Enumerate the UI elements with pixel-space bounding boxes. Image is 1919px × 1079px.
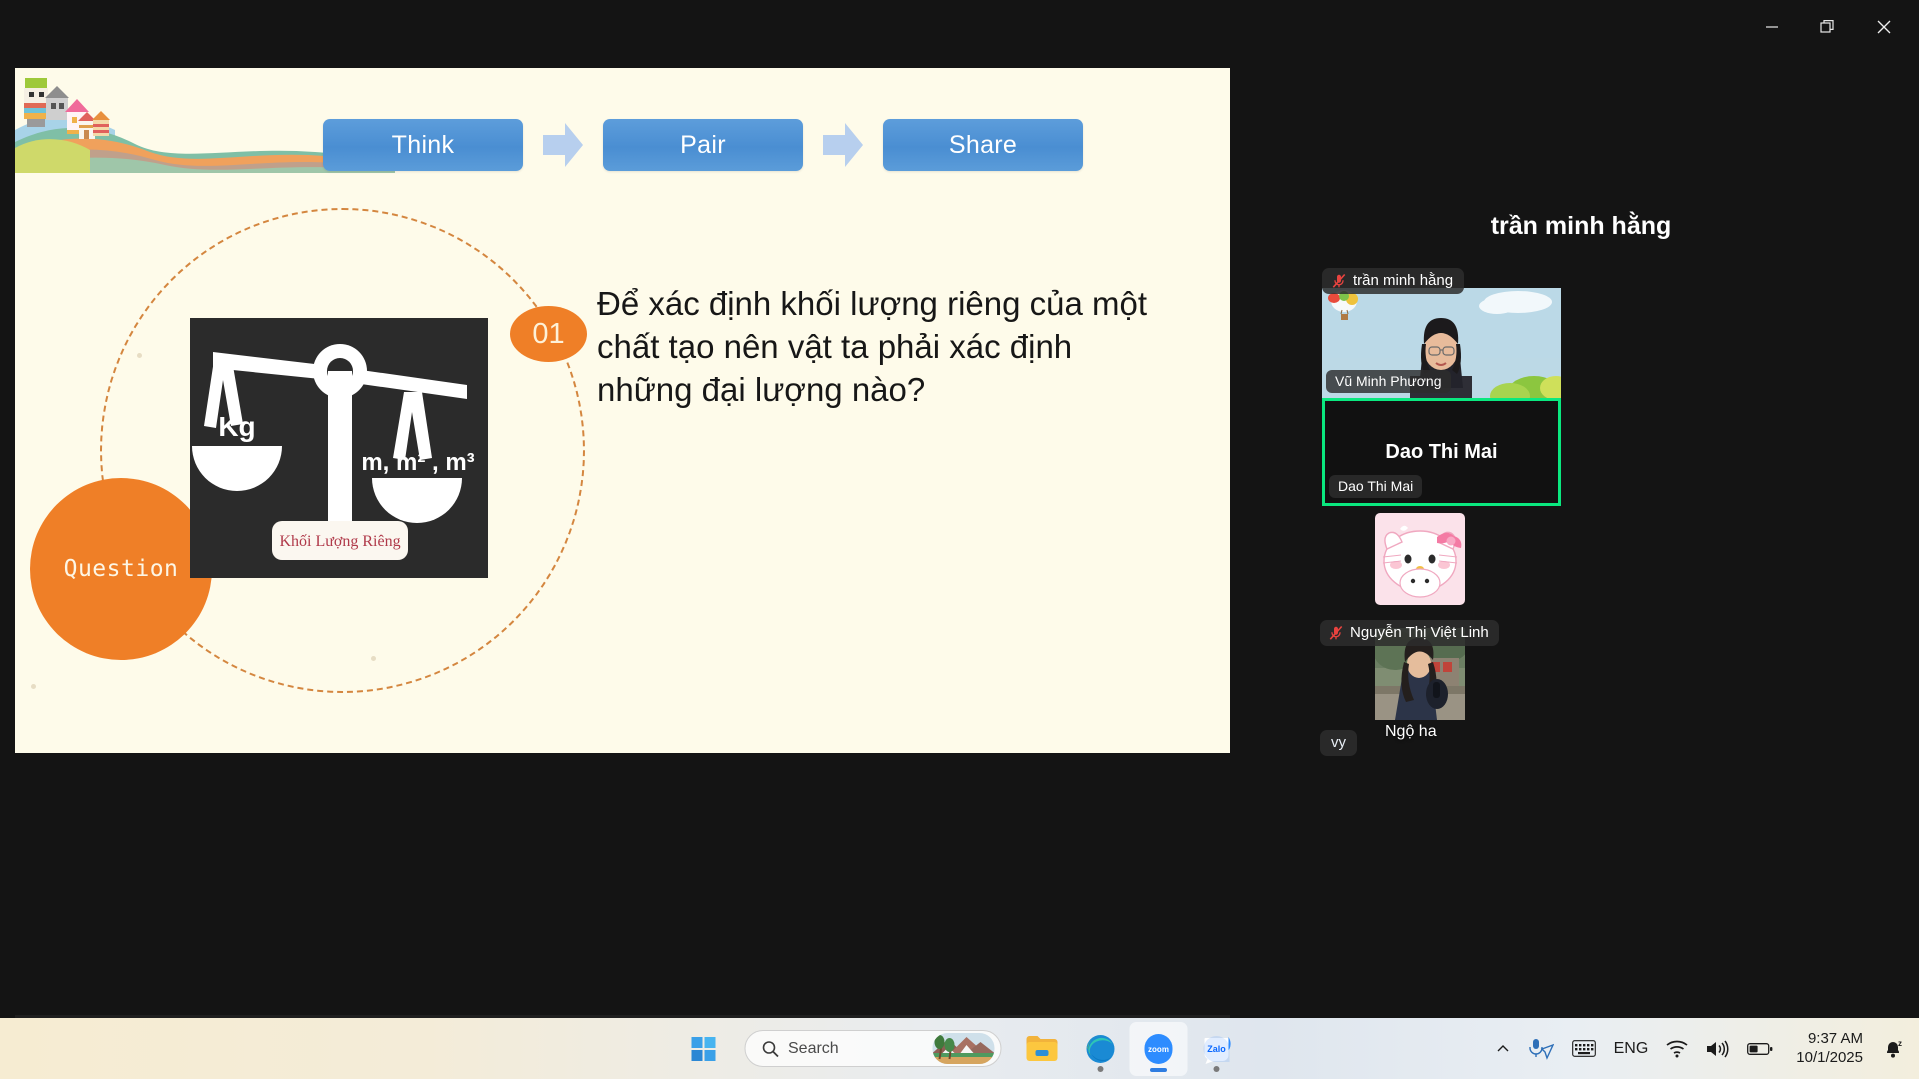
show-hidden-icons-button[interactable]: [1487, 1025, 1519, 1073]
zoom-app-window: Think Pair Share Question: [0, 0, 1919, 1018]
process-step-pair[interactable]: Pair: [603, 119, 803, 171]
arrow-right-icon: [543, 123, 583, 167]
clock-and-date[interactable]: 9:37 AM 10/1/2025: [1782, 1025, 1873, 1073]
zalo-icon: Zalo: [1201, 1034, 1231, 1064]
participant-panel: trần minh hằng: [1243, 60, 1919, 1018]
close-icon: [1876, 19, 1892, 35]
participant-tile-vu-minh-phuong[interactable]: Vũ Minh Phương: [1322, 288, 1561, 398]
search-wallpaper-thumbnail-icon: [932, 1033, 994, 1064]
search-box[interactable]: Search: [744, 1030, 1001, 1067]
participant-nametag: Vũ Minh Phương: [1326, 370, 1451, 393]
system-tray: ENG 9:37 AM: [1487, 1018, 1919, 1079]
participant-nametag-vy: vy: [1320, 730, 1357, 756]
question-number-badge: 01: [510, 306, 587, 362]
close-button[interactable]: [1856, 0, 1912, 54]
process-step-think[interactable]: Think: [323, 119, 523, 171]
search-icon: [761, 1040, 779, 1058]
active-speaker-name: trần minh hằng: [1243, 212, 1919, 241]
zoom-icon: zoom: [1143, 1032, 1173, 1066]
participant-nametag: Dao Thi Mai: [1329, 475, 1422, 498]
clock-date: 10/1/2025: [1796, 1049, 1863, 1068]
participant-name: Nguyễn Thị Việt Linh: [1350, 624, 1489, 641]
keyboard-icon: [1572, 1040, 1596, 1057]
windows-logo-icon: [691, 1037, 715, 1061]
think-pair-share-process: Think Pair Share: [323, 116, 1103, 174]
microphone-status-button[interactable]: [1519, 1025, 1563, 1073]
language-indicator[interactable]: ENG: [1605, 1025, 1658, 1073]
participant-nametag-nguyen-thi-viet-linh: Nguyễn Thị Việt Linh: [1320, 620, 1499, 646]
start-button[interactable]: [674, 1022, 732, 1076]
taskbar-app-edge[interactable]: [1071, 1022, 1129, 1076]
svg-text:zoom: zoom: [1148, 1045, 1169, 1054]
participant-name: Vũ Minh Phương: [1335, 373, 1442, 389]
participant-name: trần minh hằng: [1353, 272, 1453, 289]
minimize-icon: [1765, 20, 1779, 34]
svg-text:Kg: Kg: [218, 411, 255, 442]
restore-icon: [1820, 19, 1836, 35]
question-text: Để xác định khối lượng riêng của một chấ…: [597, 283, 1175, 412]
wifi-button[interactable]: [1657, 1025, 1697, 1073]
decorative-dot: [31, 684, 36, 689]
notifications-button[interactable]: z: [1873, 1025, 1913, 1073]
house-icon: [24, 78, 48, 127]
svg-text:Zalo: Zalo: [1207, 1044, 1226, 1054]
participant-name: Dao Thi Mai: [1338, 478, 1413, 494]
participant-nametag-tran-minh-hang: trần minh hằng: [1322, 268, 1464, 294]
taskbar-center-group: Search: [674, 1018, 1245, 1079]
participant-tile-dao-thi-mai[interactable]: Dao Thi Mai Dao Thi Mai: [1322, 398, 1561, 506]
decorative-dot: [137, 353, 142, 358]
svg-text:m, m² , m³: m, m² , m³: [361, 449, 474, 476]
chevron-up-icon: [1496, 1042, 1510, 1056]
volume-button[interactable]: [1697, 1025, 1738, 1073]
windows-taskbar: Search: [0, 1018, 1919, 1079]
battery-button[interactable]: [1738, 1025, 1782, 1073]
running-indicator: [1097, 1066, 1103, 1072]
house-icon: [45, 86, 69, 120]
taskbar-app-file-explorer[interactable]: [1013, 1022, 1071, 1076]
house-icon: [92, 111, 110, 136]
decorative-dot: [371, 656, 376, 661]
mic-muted-icon: [1331, 273, 1347, 289]
touch-keyboard-button[interactable]: [1563, 1025, 1605, 1073]
taskbar-app-zoom[interactable]: zoom: [1129, 1022, 1187, 1076]
volume-icon: [1706, 1040, 1729, 1058]
density-scale-illustration: Kg m, m² , m³ Khối Lượng Riêng: [190, 318, 488, 578]
restore-button[interactable]: [1800, 0, 1856, 54]
process-step-share[interactable]: Share: [883, 119, 1083, 171]
question-bubble: Question: [30, 478, 212, 660]
mic-muted-icon: [1328, 625, 1344, 641]
participant-overlay-text-ngo-ha: Ngộ ha: [1385, 723, 1437, 741]
arrow-right-icon: [823, 123, 863, 167]
window-titlebar: [0, 0, 1919, 60]
taskbar-app-zalo[interactable]: Zalo: [1187, 1022, 1245, 1076]
active-app-indicator: [1150, 1068, 1167, 1072]
battery-icon: [1747, 1042, 1773, 1056]
minimize-button[interactable]: [1744, 0, 1800, 54]
search-placeholder: Search: [788, 1040, 923, 1058]
shared-screen-slide: Think Pair Share Question: [15, 68, 1230, 753]
svg-text:Khối Lượng Riêng: Khối Lượng Riêng: [279, 533, 400, 550]
svg-text:z: z: [1898, 1039, 1902, 1048]
microphone-icon: [1528, 1038, 1554, 1060]
participant-avatar-image: [1375, 513, 1465, 605]
edge-icon: [1085, 1034, 1115, 1064]
folder-icon: [1027, 1035, 1058, 1062]
wifi-icon: [1666, 1040, 1688, 1058]
clock-time: 9:37 AM: [1808, 1030, 1863, 1049]
running-indicator: [1213, 1066, 1219, 1072]
notification-bell-icon: z: [1882, 1038, 1904, 1060]
participant-tile-nguyen-thi-viet-linh[interactable]: [1375, 513, 1465, 605]
